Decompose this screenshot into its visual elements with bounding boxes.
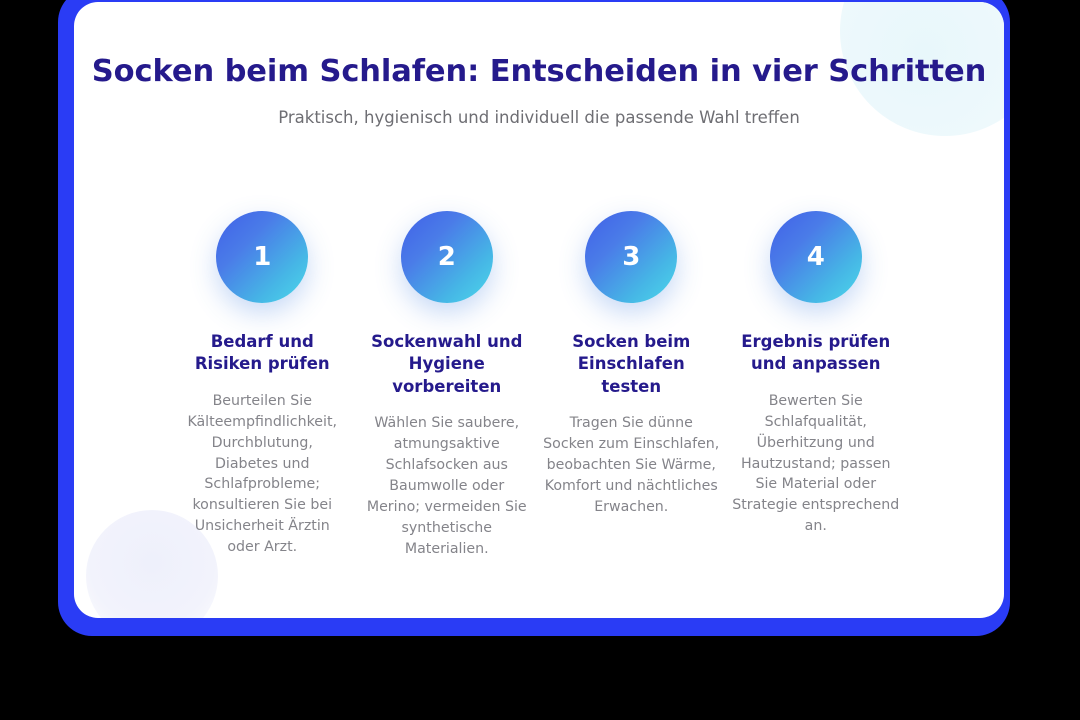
page-subtitle: Praktisch, hygienisch und individuell di… xyxy=(74,108,1004,127)
step-circle-2: 2 xyxy=(401,211,493,303)
step-number-2: 2 xyxy=(438,244,456,270)
step-title-1: Bedarf und Risiken prüfen xyxy=(188,331,336,376)
steps-container: 1 Bedarf und Risiken prüfen Beurteilen S… xyxy=(74,211,1004,559)
step-item-1: 1 Bedarf und Risiken prüfen Beurteilen S… xyxy=(170,211,355,558)
step-title-2: Sockenwahl und Hygiene vorbereiten xyxy=(371,331,523,398)
infographic-card: Socken beim Schlafen: Entscheiden in vie… xyxy=(74,2,1004,618)
step-circle-4: 4 xyxy=(770,211,862,303)
header: Socken beim Schlafen: Entscheiden in vie… xyxy=(74,2,1004,127)
step-description-4: Bewerten Sie Schlafqualität, Überhitzung… xyxy=(730,391,902,537)
step-item-2: 2 Sockenwahl und Hygiene vorbereiten Wäh… xyxy=(355,211,540,559)
step-circle-3: 3 xyxy=(585,211,677,303)
step-circle-1: 1 xyxy=(216,211,308,303)
step-number-1: 1 xyxy=(253,244,271,270)
step-description-1: Beurteilen Sie Kälteempfindlichkeit, Dur… xyxy=(186,391,338,558)
page-title: Socken beim Schlafen: Entscheiden in vie… xyxy=(74,54,1004,89)
step-number-3: 3 xyxy=(622,244,640,270)
step-item-4: 4 Ergebnis prüfen und anpassen Bewerten … xyxy=(724,211,909,537)
step-description-3: Tragen Sie dünne Socken zum Einschlafen,… xyxy=(542,413,720,517)
outer-frame: Socken beim Schlafen: Entscheiden in vie… xyxy=(58,0,1010,636)
step-number-4: 4 xyxy=(807,244,825,270)
step-title-3: Socken beim Einschlafen testen xyxy=(565,331,697,398)
step-title-4: Ergebnis prüfen und anpassen xyxy=(735,331,897,376)
step-description-2: Wählen Sie saubere, atmungsaktive Schlaf… xyxy=(367,413,527,559)
step-item-3: 3 Socken beim Einschlafen testen Tragen … xyxy=(539,211,724,518)
